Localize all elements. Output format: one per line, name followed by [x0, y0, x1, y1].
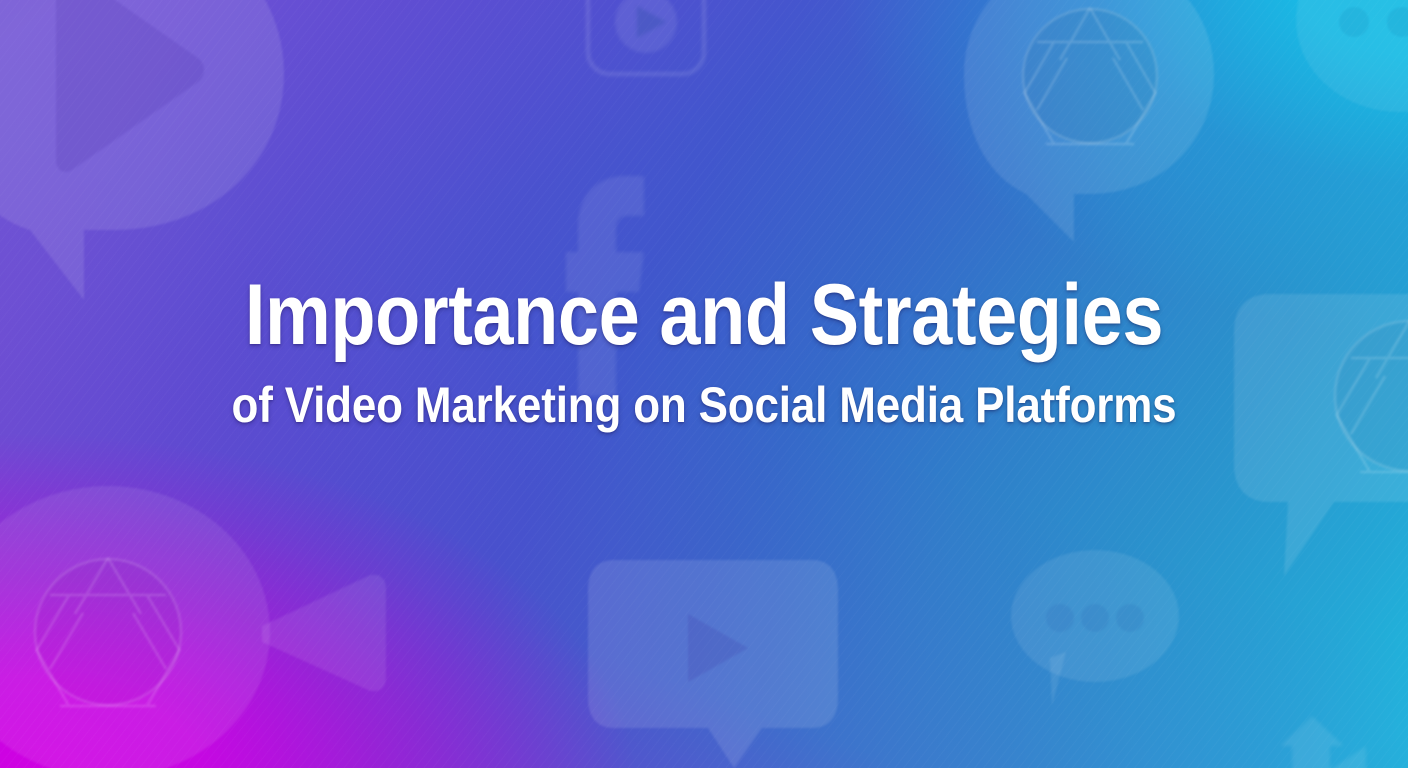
video-marketing-banner: Importance and Strategies of Video Marke…	[0, 0, 1408, 768]
banner-title: Importance and Strategies	[99, 272, 1310, 358]
banner-subtitle: of Video Marketing on Social Media Platf…	[84, 380, 1323, 430]
title-block: Importance and Strategies of Video Marke…	[0, 272, 1408, 430]
